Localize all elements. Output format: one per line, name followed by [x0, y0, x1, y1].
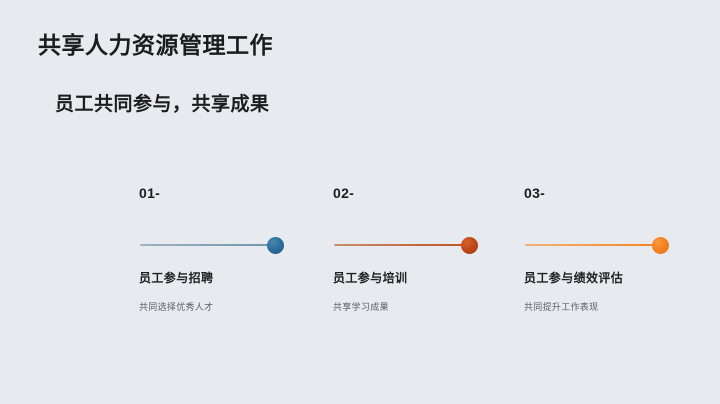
timeline-dot-icon: [267, 237, 284, 254]
timeline-item-number: 03-: [524, 185, 545, 201]
timeline-item-label: 员工参与招聘: [139, 269, 213, 286]
timeline-track: [140, 236, 283, 254]
timeline-track: [525, 236, 668, 254]
timeline-item-number: 01-: [139, 185, 160, 201]
timeline-item-description: 共同选择优秀人才: [139, 300, 213, 313]
timeline-item-label: 员工参与绩效评估: [524, 269, 623, 286]
timeline-item-label: 员工参与培训: [333, 269, 407, 286]
timeline-item-number: 02-: [333, 185, 354, 201]
timeline-dot-icon: [461, 237, 478, 254]
timeline-item-description: 共享学习成果: [333, 300, 389, 313]
timeline-line: [525, 244, 660, 246]
timeline-track: [334, 236, 477, 254]
timeline: 01- 员工参与招聘 共同选择优秀人才 02- 员工参与培训 共享学习成果 03…: [0, 0, 720, 404]
timeline-line: [140, 244, 275, 246]
timeline-line: [334, 244, 469, 246]
timeline-dot-icon: [652, 237, 669, 254]
timeline-item-description: 共同提升工作表现: [524, 300, 598, 313]
presentation-slide: 共享人力资源管理工作 员工共同参与，共享成果 01- 员工参与招聘 共同选择优秀…: [0, 0, 720, 404]
